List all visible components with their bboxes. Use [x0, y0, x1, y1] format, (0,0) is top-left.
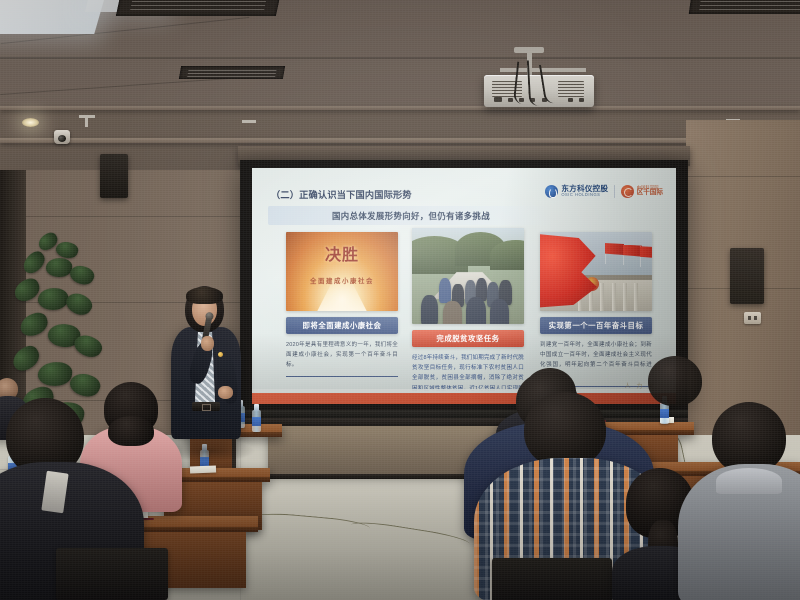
column-3-heading-chip: 实现第一个一百年奋斗目标 — [540, 317, 652, 334]
ceiling-hook — [242, 120, 256, 123]
attendee-rear-right — [648, 356, 706, 412]
water-bottle[interactable] — [252, 404, 261, 432]
column-1-heading-chip: 即将全面建成小康社会 — [286, 317, 398, 334]
conference-room-photo: （二）正确认识当下国内国际形势 东方科仪控股 OSIC HOLDINGS 中国科… — [0, 0, 800, 600]
photo-village-meeting-image — [412, 228, 524, 324]
primary-logo-en: OSIC HOLDINGS — [561, 193, 608, 197]
projection-screen: （二）正确认识当下国内国际形势 东方科仪控股 OSIC HOLDINGS 中国科… — [252, 168, 676, 404]
attendee-head — [524, 392, 606, 468]
slide-column-1: 决胜 全面建成小康社会 即将全面建成小康社会 2020年是具有里程碑意义的一年，… — [286, 232, 398, 377]
wall-speaker — [100, 154, 128, 198]
poster-jueshsheng-image: 决胜 全面建成小康社会 — [286, 232, 398, 311]
column-1-heading: 即将全面建成小康社会 — [303, 320, 382, 331]
column-1-body: 2020年是具有里程碑意义的一年，我们将全面建成小康社会，实现第一个百年奋斗目标… — [286, 340, 398, 371]
lapel-badge — [218, 352, 223, 357]
presenter-hand-gesture — [218, 386, 233, 399]
security-camera-icon — [54, 130, 70, 144]
projector-bracket-plate — [514, 47, 544, 53]
notepad[interactable] — [190, 466, 216, 474]
presenter-hand-mic — [201, 336, 214, 351]
chair-back — [56, 548, 168, 600]
poster-sub-text: 全面建成小康社会 — [286, 276, 398, 285]
power-outlet[interactable] — [744, 312, 761, 324]
presenter-hair-fringe — [186, 287, 223, 304]
oriental-science-logo-icon — [545, 185, 558, 198]
air-vent — [689, 0, 800, 14]
logo-divider — [614, 185, 615, 198]
presenter-belt — [192, 402, 220, 411]
slide-logos: 东方科仪控股 OSIC HOLDINGS 中国科学院 区千国际 — [545, 185, 663, 198]
column-1-rule — [286, 376, 398, 377]
slide-title: （二）正确认识当下国内国际形势 — [271, 187, 412, 201]
column-2-heading: 完成脱贫攻坚任务 — [436, 333, 499, 344]
air-vent — [116, 0, 280, 16]
primary-logo: 东方科仪控股 OSIC HOLDINGS — [545, 185, 608, 198]
slide-column-3: 实现第一个一百年奋斗目标 到建党一百年时，全面建成小康社会；到新中国成立一百年时… — [540, 232, 652, 387]
slide-subtitle: 国内总体发展形势向好，但仍有诸多挑战 — [332, 210, 490, 222]
attendee-hood — [716, 468, 782, 494]
wall-speaker — [730, 248, 764, 304]
ceiling-hook — [85, 118, 88, 127]
secondary-logo-cn-main: 区千国际 — [637, 190, 663, 197]
partner-logo-icon — [621, 185, 634, 198]
attendee-grey-hoodie — [690, 402, 800, 600]
column-2-heading-chip: 完成脱贫攻坚任务 — [412, 330, 524, 347]
slide-columns: 决胜 全面建成小康社会 即将全面建成小康社会 2020年是具有里程碑意义的一年，… — [268, 228, 662, 388]
secondary-logo: 中国科学院 区千国际 — [621, 185, 663, 198]
slide: （二）正确认识当下国内国际形势 东方科仪控股 OSIC HOLDINGS 中国科… — [252, 168, 676, 404]
air-vent — [179, 66, 285, 79]
chair-back — [492, 558, 612, 600]
photo-flags-great-hall-image — [540, 232, 652, 311]
column-3-heading: 实现第一个一百年奋斗目标 — [549, 320, 644, 331]
recessed-downlight — [22, 118, 39, 127]
poster-main-text: 决胜 — [286, 241, 398, 265]
slide-subtitle-band: 国内总体发展形势向好，但仍有诸多挑战 — [268, 206, 554, 225]
